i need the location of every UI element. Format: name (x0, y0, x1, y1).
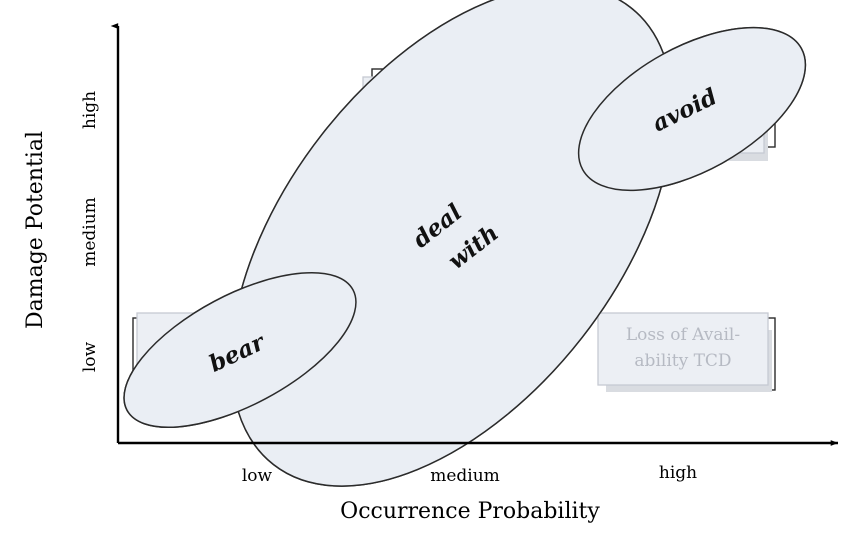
y-tick-high: high (80, 91, 100, 129)
y-tick-medium: medium (80, 197, 100, 267)
y-axis-title: Damage Potential (23, 131, 48, 329)
x-tick-medium: medium (430, 466, 500, 486)
y-axis-labels: high medium low Damage Potential (23, 91, 100, 372)
x-tick-low: low (242, 466, 273, 486)
diagram-canvas: Loss of In- tegrity TCD Loss of Confi- d… (0, 0, 855, 537)
box-label-line2: ability TCD (634, 351, 731, 371)
box-label-line1: Loss of Avail- (626, 325, 740, 345)
risk-matrix-diagram: Loss of In- tegrity TCD Loss of Confi- d… (0, 0, 855, 537)
box-loss-availability-tcd[interactable]: Loss of Avail- ability TCD (598, 313, 775, 392)
box-surface (598, 313, 768, 385)
y-tick-low: low (80, 341, 100, 372)
x-tick-high: high (659, 463, 697, 483)
x-axis-title: Occurrence Probability (340, 499, 600, 524)
